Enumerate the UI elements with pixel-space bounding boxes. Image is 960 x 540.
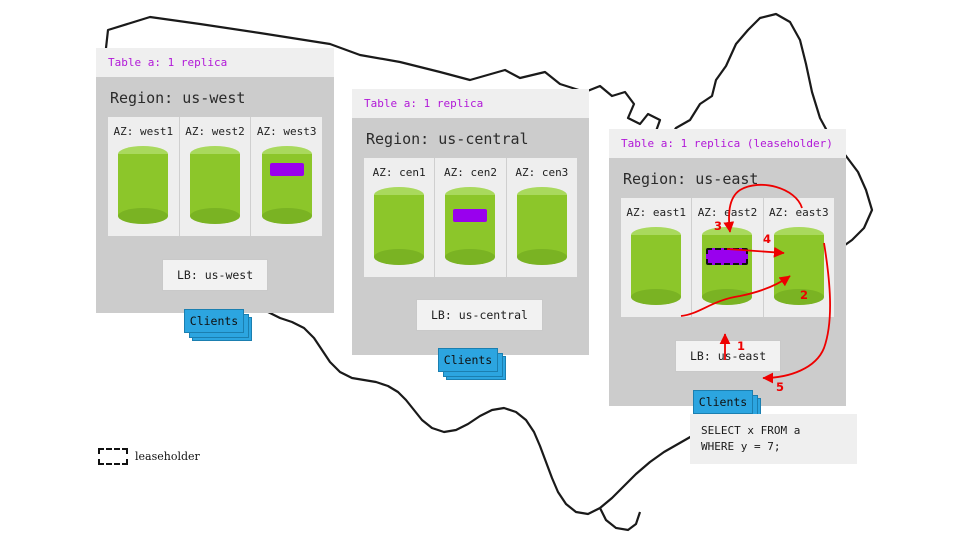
cylinder-bottom-ellipse bbox=[774, 289, 824, 305]
cylinder-body bbox=[631, 235, 681, 297]
arrow-number-3: 3 bbox=[714, 219, 722, 233]
cylinder-body bbox=[702, 235, 752, 297]
clients-label: Clients bbox=[190, 314, 238, 328]
cylinder-body bbox=[445, 195, 495, 257]
az-strip-us-west: AZ: west1 AZ: west2 AZ bbox=[108, 117, 322, 236]
region-header-label-us-east: Table a: 1 replica (leaseholder) bbox=[609, 129, 846, 158]
range-bar-east2-leaseholder[interactable] bbox=[706, 248, 748, 265]
clients-label: Clients bbox=[444, 353, 492, 367]
cylinder-body bbox=[774, 235, 824, 297]
az-label-west2: AZ: west2 bbox=[185, 125, 245, 138]
az-label-cen2: AZ: cen2 bbox=[444, 166, 497, 179]
cylinder-body bbox=[517, 195, 567, 257]
cylinder-body bbox=[190, 154, 240, 216]
range-bar-west3[interactable] bbox=[270, 163, 304, 176]
az-cell-east2[interactable]: AZ: east2 bbox=[692, 198, 763, 317]
region-body-us-east: Region: us-east AZ: east1 AZ: east2 bbox=[609, 158, 846, 406]
region-panel-us-west: Table a: 1 replica Region: us-west AZ: w… bbox=[96, 48, 334, 313]
az-cell-east3[interactable]: AZ: east3 bbox=[764, 198, 834, 317]
arrow-number-2: 2 bbox=[800, 288, 808, 302]
load-balancer-us-east[interactable]: LB: us-east bbox=[675, 340, 781, 372]
legend-leaseholder: leaseholder bbox=[98, 448, 200, 465]
az-label-cen1: AZ: cen1 bbox=[373, 166, 426, 179]
region-header-label-us-west: Table a: 1 replica bbox=[96, 48, 334, 77]
load-balancer-us-west[interactable]: LB: us-west bbox=[162, 259, 268, 291]
az-label-west3: AZ: west3 bbox=[257, 125, 317, 138]
az-cell-west1[interactable]: AZ: west1 bbox=[108, 117, 180, 236]
cylinder-bottom-ellipse bbox=[374, 249, 424, 265]
cylinder-bottom-ellipse bbox=[262, 208, 312, 224]
replica-cylinder-east3[interactable] bbox=[774, 227, 824, 305]
az-strip-us-central: AZ: cen1 AZ: cen2 bbox=[364, 158, 577, 277]
replica-cylinder-west2[interactable] bbox=[190, 146, 240, 224]
replica-cylinder-cen1[interactable] bbox=[374, 187, 424, 265]
clients-button-us-central[interactable]: Clients bbox=[438, 348, 498, 372]
region-title-us-central: Region: us-central bbox=[352, 118, 589, 158]
az-cell-cen1[interactable]: AZ: cen1 bbox=[364, 158, 435, 277]
load-balancer-us-central[interactable]: LB: us-central bbox=[416, 299, 543, 331]
region-body-us-west: Region: us-west AZ: west1 AZ: west2 bbox=[96, 77, 334, 313]
cylinder-bottom-ellipse bbox=[445, 249, 495, 265]
cylinder-bottom-ellipse bbox=[118, 208, 168, 224]
az-cell-west2[interactable]: AZ: west2 bbox=[180, 117, 252, 236]
clients-us-central[interactable]: Clients bbox=[438, 348, 506, 380]
clients-us-west[interactable]: Clients bbox=[184, 309, 252, 341]
region-panel-us-central: Table a: 1 replica Region: us-central AZ… bbox=[352, 89, 589, 355]
legend-label: leaseholder bbox=[135, 450, 200, 463]
replica-cylinder-west3[interactable] bbox=[262, 146, 312, 224]
cylinder-body bbox=[374, 195, 424, 257]
diagram-stage: Table a: 1 replica Region: us-west AZ: w… bbox=[0, 0, 960, 540]
az-label-east2: AZ: east2 bbox=[698, 206, 758, 219]
cylinder-bottom-ellipse bbox=[702, 289, 752, 305]
az-cell-cen3[interactable]: AZ: cen3 bbox=[507, 158, 577, 277]
arrow-number-5: 5 bbox=[776, 380, 784, 394]
az-label-east3: AZ: east3 bbox=[769, 206, 829, 219]
region-title-us-west: Region: us-west bbox=[96, 77, 334, 117]
cylinder-body bbox=[118, 154, 168, 216]
clients-button-us-east[interactable]: Clients bbox=[693, 390, 753, 414]
clients-button-us-west[interactable]: Clients bbox=[184, 309, 244, 333]
region-title-us-east: Region: us-east bbox=[609, 158, 846, 198]
az-cell-cen2[interactable]: AZ: cen2 bbox=[435, 158, 506, 277]
replica-cylinder-cen2[interactable] bbox=[445, 187, 495, 265]
az-cell-east1[interactable]: AZ: east1 bbox=[621, 198, 692, 317]
region-body-us-central: Region: us-central AZ: cen1 AZ: cen2 bbox=[352, 118, 589, 355]
replica-cylinder-east1[interactable] bbox=[631, 227, 681, 305]
az-label-west1: AZ: west1 bbox=[114, 125, 174, 138]
region-header-label-us-central: Table a: 1 replica bbox=[352, 89, 589, 118]
region-panel-us-east: Table a: 1 replica (leaseholder) Region:… bbox=[609, 129, 846, 406]
clients-label: Clients bbox=[699, 395, 747, 409]
az-label-cen3: AZ: cen3 bbox=[515, 166, 568, 179]
sql-query-box: SELECT x FROM a WHERE y = 7; bbox=[690, 414, 857, 464]
range-bar-cen2[interactable] bbox=[453, 209, 487, 222]
cylinder-bottom-ellipse bbox=[631, 289, 681, 305]
az-cell-west3[interactable]: AZ: west3 bbox=[251, 117, 322, 236]
replica-cylinder-west1[interactable] bbox=[118, 146, 168, 224]
replica-cylinder-east2[interactable] bbox=[702, 227, 752, 305]
az-label-east1: AZ: east1 bbox=[626, 206, 686, 219]
replica-cylinder-cen3[interactable] bbox=[517, 187, 567, 265]
dashed-rect-icon bbox=[98, 448, 128, 465]
cylinder-bottom-ellipse bbox=[517, 249, 567, 265]
cylinder-bottom-ellipse bbox=[190, 208, 240, 224]
arrow-number-4: 4 bbox=[763, 232, 771, 246]
arrow-number-1: 1 bbox=[737, 339, 745, 353]
